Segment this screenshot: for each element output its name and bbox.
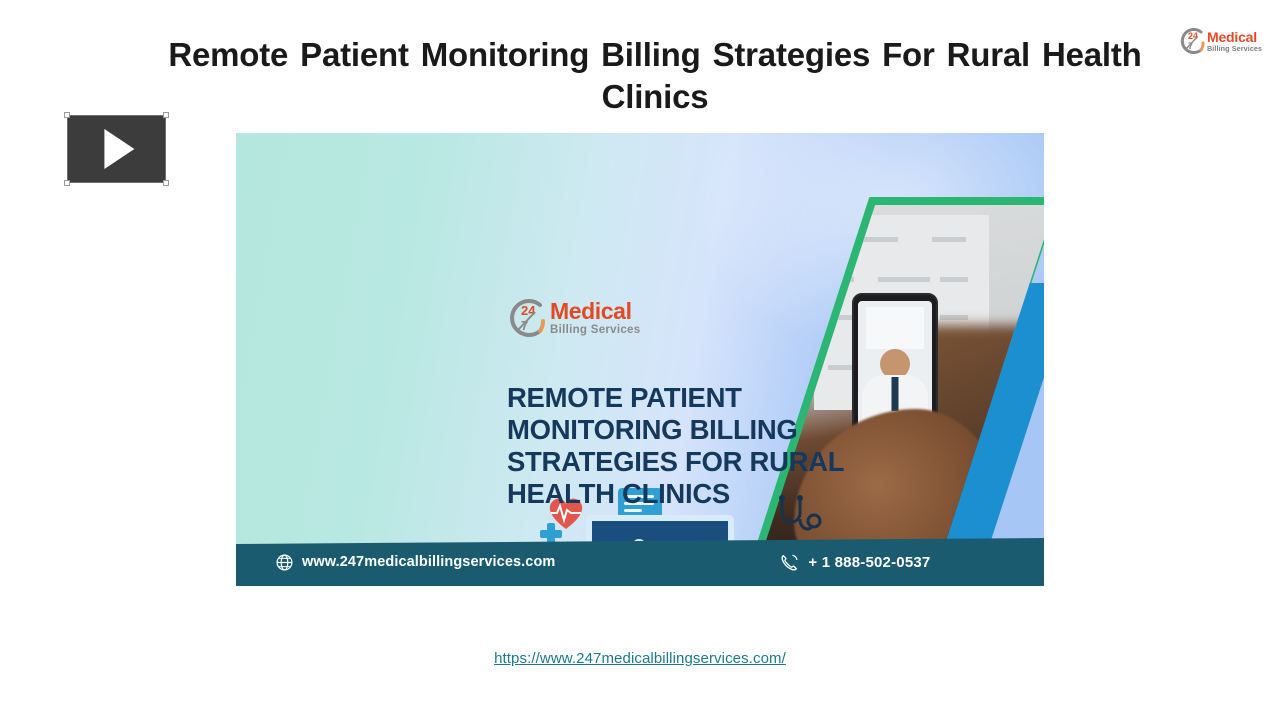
- resize-handle-top-left[interactable]: [64, 112, 70, 118]
- phone-chart: [866, 307, 924, 349]
- resize-handle-bottom-left[interactable]: [64, 180, 70, 186]
- globe-icon: [276, 554, 293, 571]
- footer-phone-text: + 1 888-502-0537: [808, 554, 930, 571]
- banner-wordmark: Medical Billing Services: [550, 300, 640, 337]
- resize-handle-top-right[interactable]: [163, 112, 169, 118]
- banner-headline: Remote Patient Monitoring Billing Strate…: [507, 382, 907, 510]
- resize-handle-bottom-right[interactable]: [163, 180, 169, 186]
- brand-tagline: Billing Services: [1207, 45, 1262, 52]
- footer-website-text: www.247medicalbillingservices.com: [302, 554, 555, 570]
- brand-logo: 24 7 Medical Billing Services: [1176, 24, 1268, 58]
- page-title: Remote Patient Monitoring Billing Strate…: [160, 34, 1150, 118]
- brand-wordmark: Medical Billing Services: [1207, 30, 1262, 52]
- video-placeholder[interactable]: [67, 115, 166, 183]
- banner-clock-arc-icon: 24 7: [504, 296, 548, 340]
- banner-brand-logo: 24 7 Medical Billing Services: [504, 296, 640, 340]
- brand-clock-arc-icon: 24 7: [1176, 26, 1206, 56]
- footer-website: www.247medicalbillingservices.com: [276, 554, 555, 571]
- svg-text:24: 24: [1188, 31, 1198, 41]
- play-icon[interactable]: [104, 129, 134, 169]
- banner-brand-name: Medical: [550, 300, 640, 323]
- svg-text:24: 24: [521, 303, 536, 318]
- presentation-slide: 24 7 Medical Billing Services Remote Pat…: [0, 0, 1280, 720]
- banner-brand-tagline: Billing Services: [550, 325, 640, 337]
- footer-phone: + 1 888-502-0537: [780, 553, 930, 572]
- banner-image: 24 7 Medical Billing Services Remote Pat…: [236, 133, 1044, 586]
- source-link[interactable]: https://www.247medicalbillingservices.co…: [0, 650, 1280, 667]
- brand-name: Medical: [1207, 30, 1262, 44]
- phone-icon: [780, 553, 799, 572]
- banner-footer-bar: www.247medicalbillingservices.com + 1 88…: [236, 538, 1044, 586]
